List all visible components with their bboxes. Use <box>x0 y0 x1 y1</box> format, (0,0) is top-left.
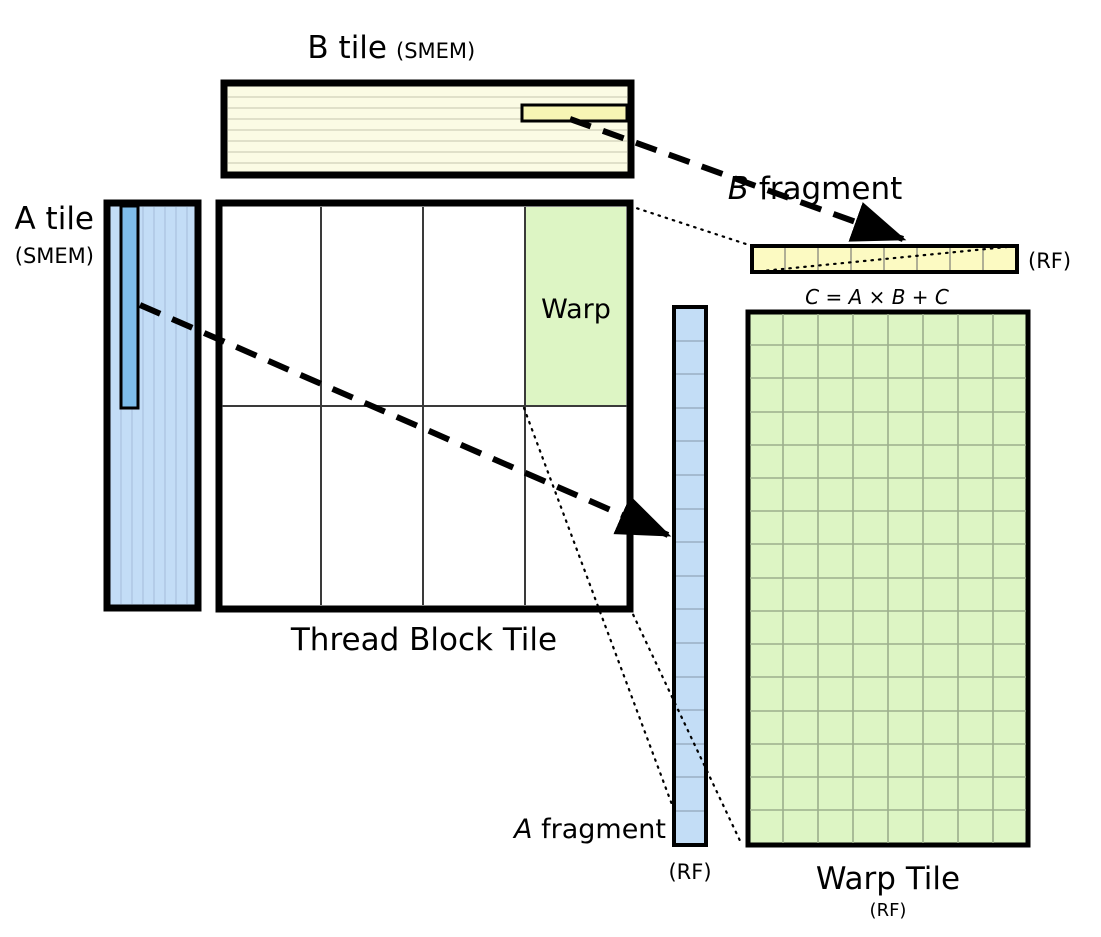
b-tile-sublabel: (SMEM) <box>396 39 475 63</box>
a-fragment-italic: A <box>512 814 532 845</box>
thread-block-tile-group: Warp Thread Block Tile <box>219 203 630 658</box>
a-fragment-rest: fragment <box>533 814 666 845</box>
diagram-canvas: B tile (SMEM) A tile (SMEM) <box>0 0 1101 937</box>
b-fragment-rest: fragment <box>749 171 902 207</box>
a-tile-group: A tile (SMEM) <box>14 201 198 608</box>
b-tile-group: B tile (SMEM) <box>224 30 631 175</box>
b-fragment-group: (RF) <box>752 246 1071 273</box>
b-tile-label: B tile <box>307 30 387 66</box>
a-tile-label: A tile <box>14 201 94 237</box>
a-fragment-rf-label: (RF) <box>668 860 711 884</box>
equation-label: C = A × B + C <box>805 285 949 309</box>
warp-cell-label: Warp <box>541 294 611 325</box>
b-fragment-rf-label: (RF) <box>1028 249 1071 273</box>
b-fragment-label: B fragment <box>728 171 903 207</box>
warp-tile-group: Warp Tile (RF) <box>748 312 1028 921</box>
a-tile-sublabel: (SMEM) <box>15 244 94 268</box>
a-tile-highlight-strip <box>121 206 138 408</box>
a-fragment-label: A fragment <box>512 814 666 845</box>
b-fragment-italic: B <box>728 171 749 207</box>
warp-tile-label: Warp Tile <box>816 861 960 897</box>
thread-block-tile-label: Thread Block Tile <box>290 622 557 658</box>
warp-tile-sublabel: (RF) <box>870 900 907 921</box>
gemm-tiling-diagram: B tile (SMEM) A tile (SMEM) <box>0 0 1101 937</box>
